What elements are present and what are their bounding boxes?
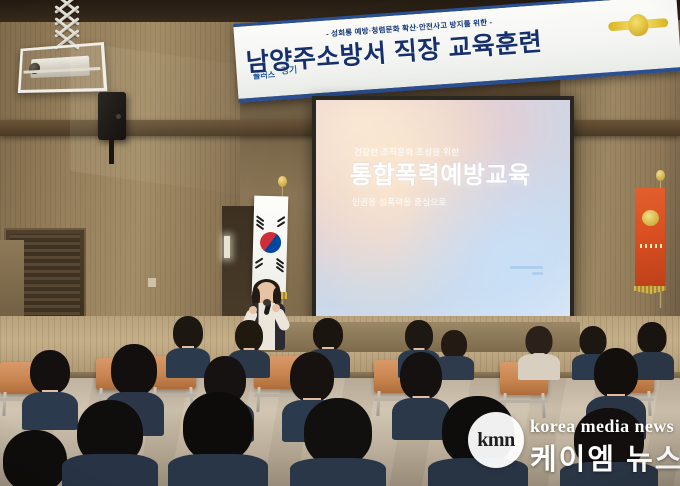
person-torso [518,354,560,380]
wall-switch [148,278,156,287]
audience-member [168,392,268,486]
projector-cage [18,42,108,93]
person-head [111,344,157,396]
audience-member [290,398,386,486]
slide-corner-logo-icon [510,264,544,280]
watermark-korean-text: 케이엠 뉴스 [530,436,680,478]
banner-main-title: 남양주소방서 직장 교육훈련 [245,27,543,78]
slide-title: 통합폭력예방교육 [350,162,531,190]
fire-service-winged-emblem-icon [607,8,669,46]
person-torso [62,454,158,486]
person-head [3,430,67,486]
watermark: kmn korea media news 케이엠 뉴스 [468,404,674,480]
audience-member [518,326,560,380]
lecturer-hand-right [272,304,280,312]
taeguk-circle-icon [256,228,285,257]
person-head [400,352,442,400]
flag-finial-left [278,176,287,187]
person-head [173,316,203,350]
person-head [304,398,372,466]
organization-flag-text [640,244,662,248]
slide-subtitle-top: 건강한 조직문화 조성을 위한 [354,146,459,158]
kmn-logo-text: kmn [477,429,514,452]
person-torso [168,454,268,486]
person-torso [290,458,386,486]
projection-screen: 건강한 조직문화 조성을 위한 통합폭력예방교육 인권을 성폭력을 중심으로 [316,100,570,318]
watermark-english-text: korea media news [530,416,674,437]
person-head [183,392,253,462]
kmn-logo-badge: kmn [468,412,524,468]
wall-mounted-speaker [98,92,126,140]
microphone-head-icon [263,299,271,306]
organization-flag-emblem-icon [642,210,659,226]
speaker-driver-icon [116,114,121,119]
slide-subtitle-bottom: 인권을 성폭력을 중심으로 [352,196,447,208]
ceiling-projector [2,0,122,100]
screen-cool-glow [392,133,570,318]
person-head [526,326,553,356]
person-head [594,348,638,398]
scissor-lift-mount [48,0,88,48]
organization-flag [635,188,665,292]
flag-finial-right [656,170,665,181]
photo-scene: 플러스 경기 - 성희롱 예방·청렴문화 확산·안전사고 방지를 위한 - 남양… [0,0,680,486]
doorway-light [224,236,230,258]
person-head [30,350,70,394]
person-head [290,352,334,402]
lecturer-hand-left [249,306,257,314]
speaker-bracket [109,138,114,164]
audience-member [62,400,158,486]
